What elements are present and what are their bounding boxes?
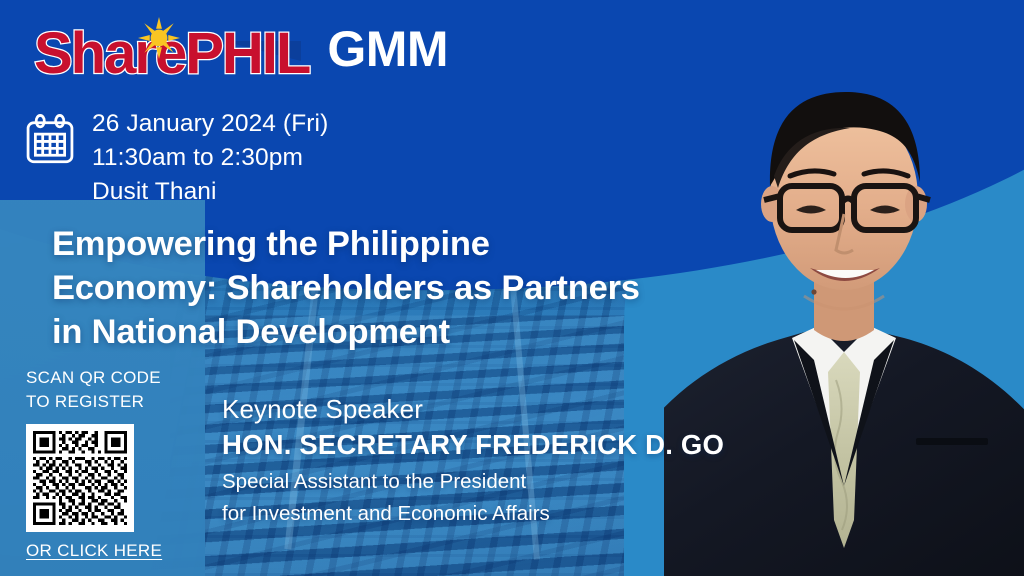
page-title: Empowering the Philippine Economy: Share… (52, 222, 782, 354)
philippine-sun-icon (138, 17, 180, 59)
headline-line-1: Empowering the Philippine (52, 222, 782, 266)
speaker-name: HON. SECRETARY FREDERICK D. GO (222, 426, 782, 464)
event-venue: Dusit Thani (92, 175, 328, 209)
speaker-kicker: Keynote Speaker (222, 392, 782, 426)
event-date: 26 January 2024 (Fri) (92, 107, 328, 141)
brand-logo-row: SharePHIL GMM (34, 24, 448, 80)
register-link[interactable]: OR CLICK HERE (26, 541, 162, 561)
headline-line-2: Economy: Shareholders as Partners (52, 266, 782, 310)
qr-caption-line-1: SCAN QR CODE (26, 366, 186, 390)
event-abbreviation: GMM (327, 24, 448, 80)
registration-block: SCAN QR CODE TO REGISTER (26, 366, 186, 561)
event-detail-lines: 26 January 2024 (Fri) 11:30am to 2:30pm … (92, 107, 328, 209)
speaker-role-line-1: Special Assistant to the President (222, 467, 782, 496)
logo-phil-text: PHIL (185, 21, 309, 86)
event-time: 11:30am to 2:30pm (92, 141, 328, 175)
event-poster: SharePHIL GMM 26 January 2024 (Fri) 11:3… (0, 0, 1024, 576)
speaker-role-line-2: for Investment and Economic Affairs (222, 499, 782, 528)
speaker-info: Keynote Speaker HON. SECRETARY FREDERICK… (222, 392, 782, 528)
sharephil-logo: SharePHIL (34, 27, 309, 80)
headline-line-3: in National Development (52, 310, 782, 354)
qr-code-icon[interactable] (26, 424, 134, 532)
event-details-block: 26 January 2024 (Fri) 11:30am to 2:30pm … (24, 107, 328, 209)
qr-caption-line-2: TO REGISTER (26, 390, 186, 414)
qr-caption: SCAN QR CODE TO REGISTER (26, 366, 186, 414)
calendar-icon (24, 113, 76, 165)
